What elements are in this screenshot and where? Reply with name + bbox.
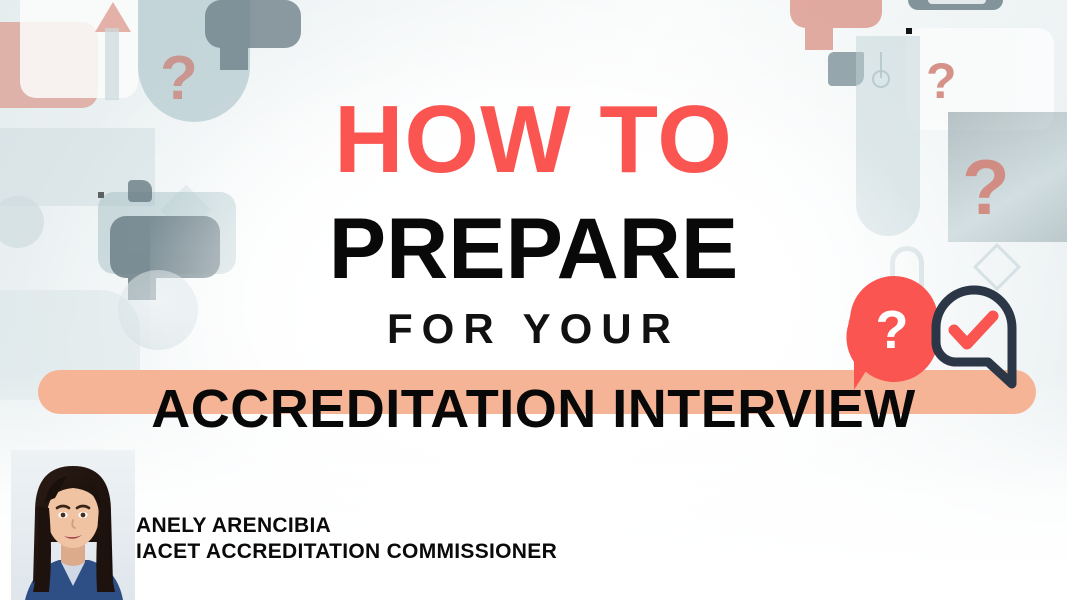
headline-banner-accreditation-interview: ACCREDITATION INTERVIEW [0,382,1067,436]
portrait-iris-left [61,513,66,518]
presenter-role: IACET ACCREDITATION COMMISSIONER [136,539,557,565]
speech-bubbles-svg: ? [836,272,1026,390]
question-mark-glyph: ? [876,300,909,360]
decor-pillar-pale [105,28,119,100]
checkmark-glyph [954,316,993,344]
title-slide: ? ? ? [0,0,1067,600]
presenter-name: ANELY ARENCIBIA [136,513,557,539]
presenter-portrait-svg [11,450,135,600]
headline-line-how-to: HOW TO [0,92,1067,188]
decor-speech-bubble-slate-topright [205,0,301,48]
check-bubble-group [936,290,1012,384]
decor-speech-bubble-salmon-topright [790,0,882,28]
icon-pair-question-and-check: ? [836,272,1026,390]
presenter-photo [11,450,135,600]
presenter-credit: ANELY ARENCIBIA IACET ACCREDITATION COMM… [136,513,557,564]
question-bubble-group: ? [846,276,938,390]
portrait-iris-right [81,513,86,518]
decor-strip-white-topright [928,0,986,4]
